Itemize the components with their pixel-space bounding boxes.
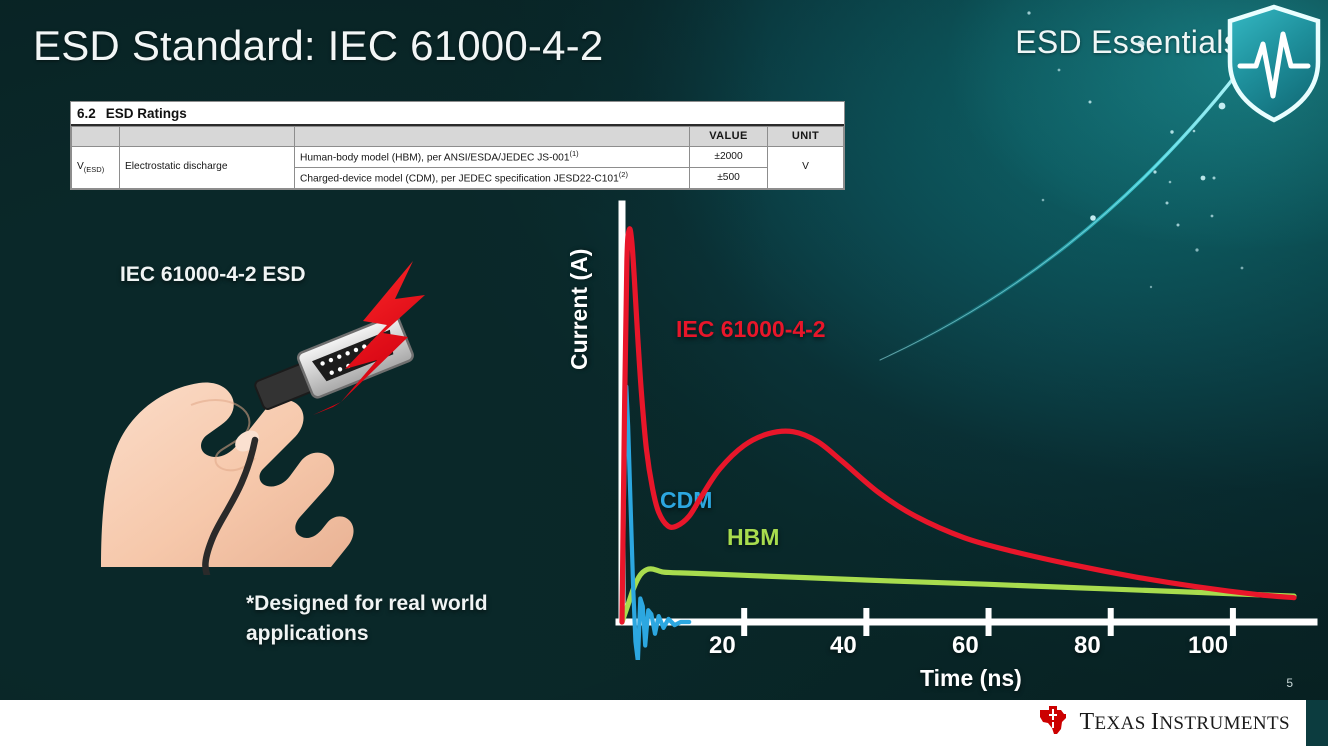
texas-state-icon: [1037, 705, 1069, 740]
brand-badge: ESD Essentials: [1015, 24, 1240, 61]
esd-waveform-chart: [560, 190, 1320, 665]
header-value-cell: VALUE: [690, 127, 768, 147]
brand-label: ESD Essentials: [1015, 24, 1240, 61]
texas-instruments-wordmark: TEXAS INSTRUMENTS: [1079, 709, 1290, 736]
logo-t: T: [1079, 709, 1094, 735]
section-title: ESD Ratings: [106, 106, 187, 121]
parameter-cell: Electrostatic discharge: [120, 147, 295, 189]
symbol-text: V: [77, 161, 84, 172]
esd-ratings-table: 6.2ESD Ratings VALUE UNIT V(ESD) Electro…: [70, 101, 845, 190]
texas-instruments-logo: TEXAS INSTRUMENTS: [1037, 705, 1290, 740]
description-cell-hbm: Human-body model (HBM), per ANSI/ESDA/JE…: [295, 147, 690, 168]
x-tick-label-40: 40: [830, 632, 857, 660]
table-header-row: VALUE UNIT: [72, 127, 844, 147]
chart-x-axis-label: Time (ns): [920, 665, 1022, 692]
value-cell-hbm: ±2000: [690, 147, 768, 168]
header-unit-cell: UNIT: [768, 127, 844, 147]
value-cell-cdm: ±500: [690, 168, 768, 189]
hbm-footnote: (1): [570, 149, 579, 158]
description-cell-cdm: Charged-device model (CDM), per JEDEC sp…: [295, 168, 690, 189]
logo-nstruments: NSTRUMENTS: [1159, 713, 1290, 734]
header-symbol-cell: [72, 127, 120, 147]
cdm-description: Charged-device model (CDM), per JEDEC sp…: [300, 174, 619, 185]
logo-exas: EXAS: [1095, 713, 1151, 734]
table-section-heading: 6.2ESD Ratings: [71, 102, 844, 126]
table-row: V(ESD) Electrostatic discharge Human-bod…: [72, 147, 844, 168]
header-description-cell: [295, 127, 690, 147]
unit-cell: V: [768, 147, 844, 189]
x-tick-label-80: 80: [1074, 632, 1101, 660]
x-tick-label-20: 20: [709, 632, 736, 660]
esd-illustration: [95, 255, 455, 580]
symbol-subscript: (ESD): [84, 165, 104, 174]
x-tick-label-60: 60: [952, 632, 979, 660]
section-number: 6.2: [77, 106, 96, 121]
hbm-description: Human-body model (HBM), per ANSI/ESDA/JE…: [300, 152, 570, 163]
slide-canvas: ESD Standard: IEC 61000-4-2 ESD Essentia…: [0, 0, 1328, 746]
ratings-grid: VALUE UNIT V(ESD) Electrostatic discharg…: [71, 126, 844, 189]
hand-icon: [101, 383, 354, 568]
x-tick-label-100: 100: [1188, 632, 1228, 660]
page-title: ESD Standard: IEC 61000-4-2: [33, 22, 603, 70]
header-parameter-cell: [120, 127, 295, 147]
cdm-footnote: (2): [619, 170, 628, 179]
symbol-cell: V(ESD): [72, 147, 120, 189]
shield-pulse-icon: [1226, 4, 1322, 131]
illustration-caption: *Designed for real world applications: [246, 589, 546, 650]
hdmi-connector-icon: [250, 314, 414, 418]
footer-right-edge: [1306, 700, 1328, 746]
slide-number: 5: [1286, 676, 1293, 690]
